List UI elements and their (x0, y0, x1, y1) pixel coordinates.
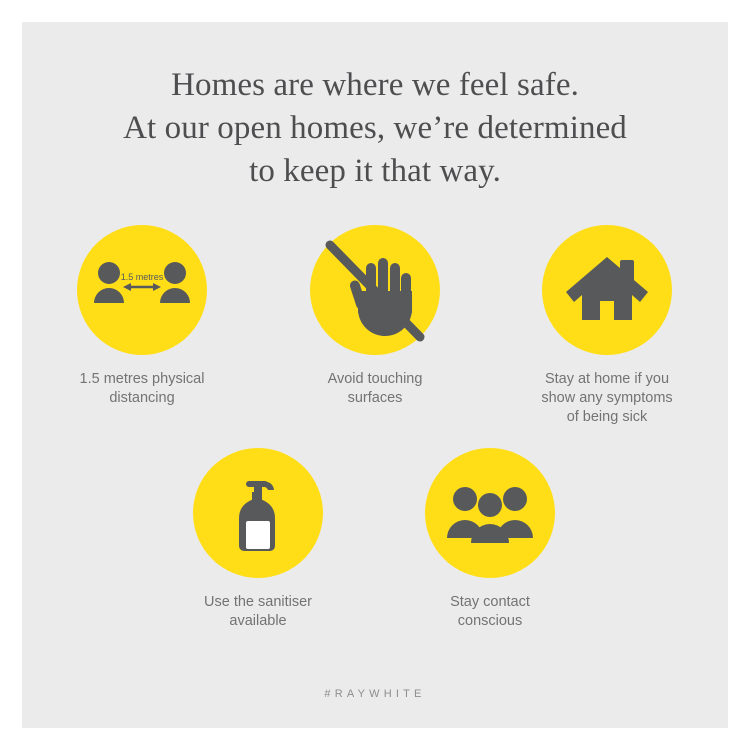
icon-badge-surfaces (310, 225, 440, 355)
tile-caption: Use the sanitiser available (158, 593, 358, 631)
distance-label: 1.5 metres (121, 272, 164, 282)
icon-badge-stayhome (542, 225, 672, 355)
tile-caption: 1.5 metres physical distancing (42, 370, 242, 408)
tile-sanitiser: Use the sanitiser available (158, 448, 358, 631)
tile-caption: Stay at home if you show any symptoms of… (507, 370, 707, 427)
tile-contact-conscious: Stay contact conscious (390, 448, 590, 631)
two-people-distance-icon: 1.5 metres (77, 225, 207, 355)
poster-card: Homes are where we feel safe. At our ope… (22, 22, 728, 728)
group-of-people-icon (425, 448, 555, 578)
tile-stay-home: Stay at home if you show any symptoms of… (507, 225, 707, 427)
house-icon (542, 225, 672, 355)
tile-distancing: 1.5 metres 1.5 metres physical distancin… (42, 225, 242, 408)
brand-hashtag: #RAYWHITE (22, 688, 728, 700)
tile-caption: Stay contact conscious (390, 593, 590, 631)
page-title: Homes are where we feel safe. At our ope… (22, 64, 728, 193)
no-touching-hand-icon (310, 225, 440, 355)
sanitiser-pump-bottle-icon (193, 448, 323, 578)
icon-badge-distancing: 1.5 metres (77, 225, 207, 355)
icon-badge-contact (425, 448, 555, 578)
tile-caption: Avoid touching surfaces (275, 370, 475, 408)
icon-badge-sanitiser (193, 448, 323, 578)
tile-avoid-touching: Avoid touching surfaces (275, 225, 475, 408)
